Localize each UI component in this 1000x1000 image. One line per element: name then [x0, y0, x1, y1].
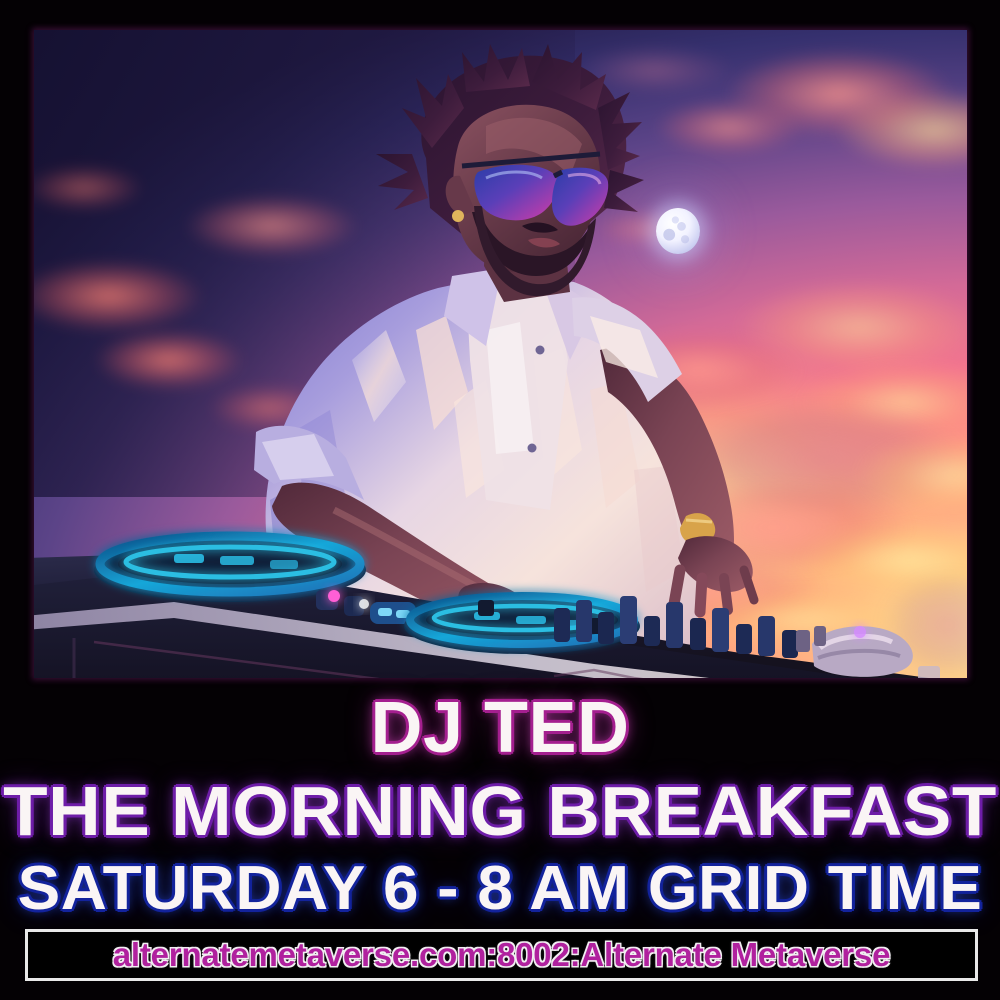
headline-line-1: DJ TED — [0, 692, 1000, 764]
headline-block: DJ TED THE MORNING BREAKFAST SATURDAY 6 … — [0, 678, 1000, 920]
finger — [674, 570, 680, 604]
headline-line-2: THE MORNING BREAKFAST — [0, 776, 1000, 846]
poster-root: DJ TED THE MORNING BREAKFAST SATURDAY 6 … — [0, 0, 1000, 1000]
shirt-button — [528, 444, 537, 453]
finger — [700, 578, 702, 612]
dj-figure — [34, 30, 967, 678]
url-text: alternatemetaverse.com:8002:Alternate Me… — [113, 936, 891, 974]
lens-right — [552, 168, 608, 226]
shirt-button — [536, 346, 545, 355]
earring — [452, 210, 464, 222]
finger — [724, 578, 728, 610]
url-bar[interactable]: alternatemetaverse.com:8002:Alternate Me… — [25, 929, 978, 981]
artwork-photo — [34, 30, 967, 678]
headline-line-3: SATURDAY 6 - 8 AM GRID TIME — [0, 858, 1000, 920]
